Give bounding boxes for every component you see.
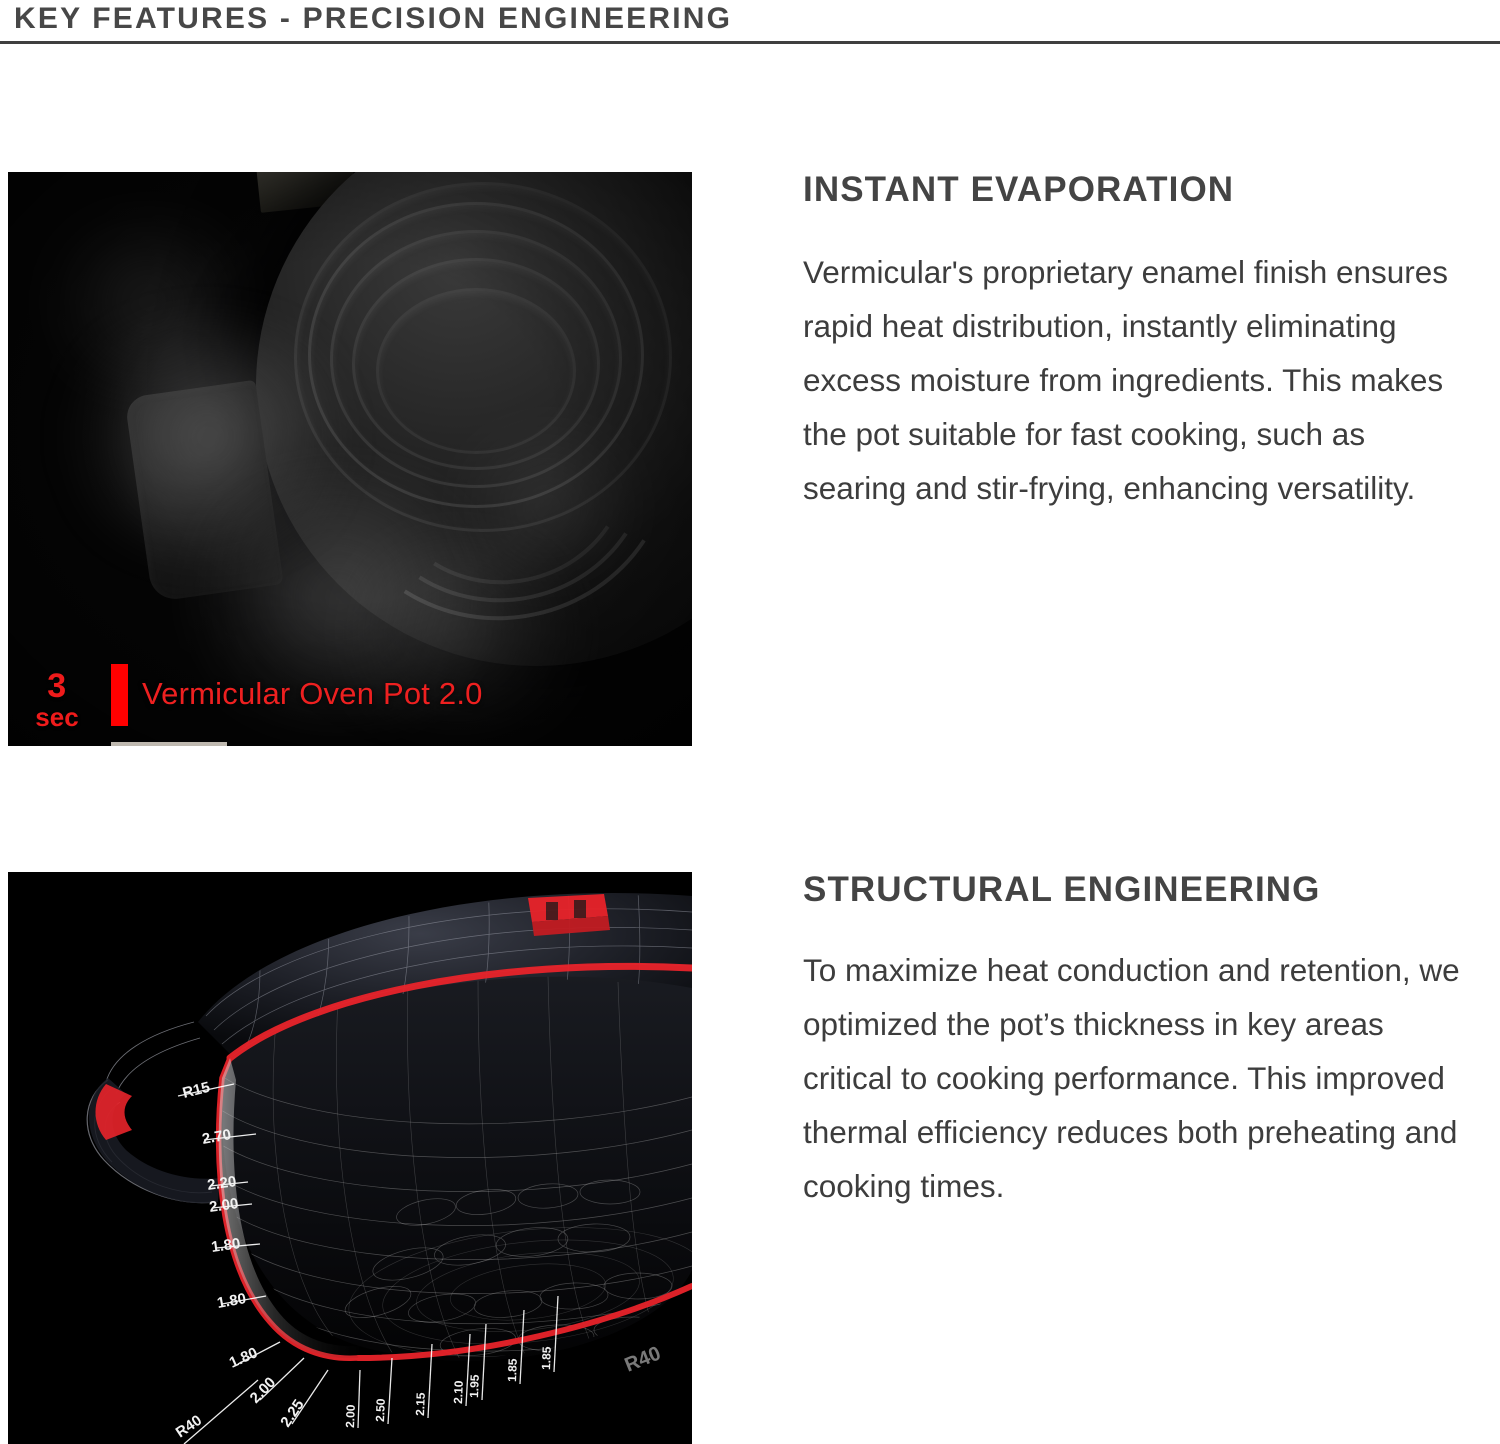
bar-series-label: Vermicular Oven Pot 2.0	[142, 676, 483, 712]
cad-dim-label: 2.15	[413, 1392, 428, 1416]
cad-dim-label: 1.95	[467, 1374, 482, 1398]
cad-lid-knob	[528, 894, 610, 936]
feature-heading-instant-evaporation: INSTANT EVAPORATION	[803, 172, 1473, 209]
bar-value-label: 3 sec	[14, 670, 100, 730]
structural-copy: STRUCTURAL ENGINEERING To maximize heat …	[803, 872, 1473, 1214]
bar-value-unit: sec	[14, 705, 100, 730]
feature-row-instant-evaporation: 3 sec Vermicular Oven Pot 2.0 94 sec Raw…	[0, 172, 1500, 746]
structural-media: R15 2.70 2.20 2.00 1.80 1.80 1.80 2.00 2…	[8, 872, 692, 1444]
evaporation-bar-chart: 3 sec Vermicular Oven Pot 2.0 94 sec Raw…	[8, 492, 692, 742]
header-divider	[0, 41, 1500, 44]
cad-dim-label: 1.85	[539, 1346, 554, 1370]
bar-value-number: 3	[14, 670, 100, 703]
feature-body-instant-evaporation: Vermicular's proprietary enamel finish e…	[803, 245, 1473, 516]
feature-body-structural-engineering: To maximize heat conduction and retentio…	[803, 943, 1473, 1214]
bar-fill-vermicular	[111, 664, 128, 726]
cad-dim-label: 1.85	[505, 1358, 520, 1382]
evaporation-media: 3 sec Vermicular Oven Pot 2.0 94 sec Raw…	[8, 172, 692, 746]
section-header: KEY FEATURES - PRECISION ENGINEERING	[0, 0, 1500, 48]
cad-dim-label: 2.00	[343, 1404, 358, 1428]
bar-fill-cast-iron	[111, 742, 227, 746]
feature-heading-structural-engineering: STRUCTURAL ENGINEERING	[803, 872, 1473, 909]
evaporation-copy: INSTANT EVAPORATION Vermicular's proprie…	[803, 172, 1473, 516]
cad-dim-label: 2.50	[373, 1398, 388, 1422]
feature-row-structural-engineering: R15 2.70 2.20 2.00 1.80 1.80 1.80 2.00 2…	[0, 872, 1500, 1444]
cad-wireframe-scene: R15 2.70 2.20 2.00 1.80 1.80 1.80 2.00 2…	[8, 872, 692, 1444]
cad-dim-label: 2.10	[451, 1380, 466, 1404]
page-title: KEY FEATURES - PRECISION ENGINEERING	[14, 2, 732, 36]
